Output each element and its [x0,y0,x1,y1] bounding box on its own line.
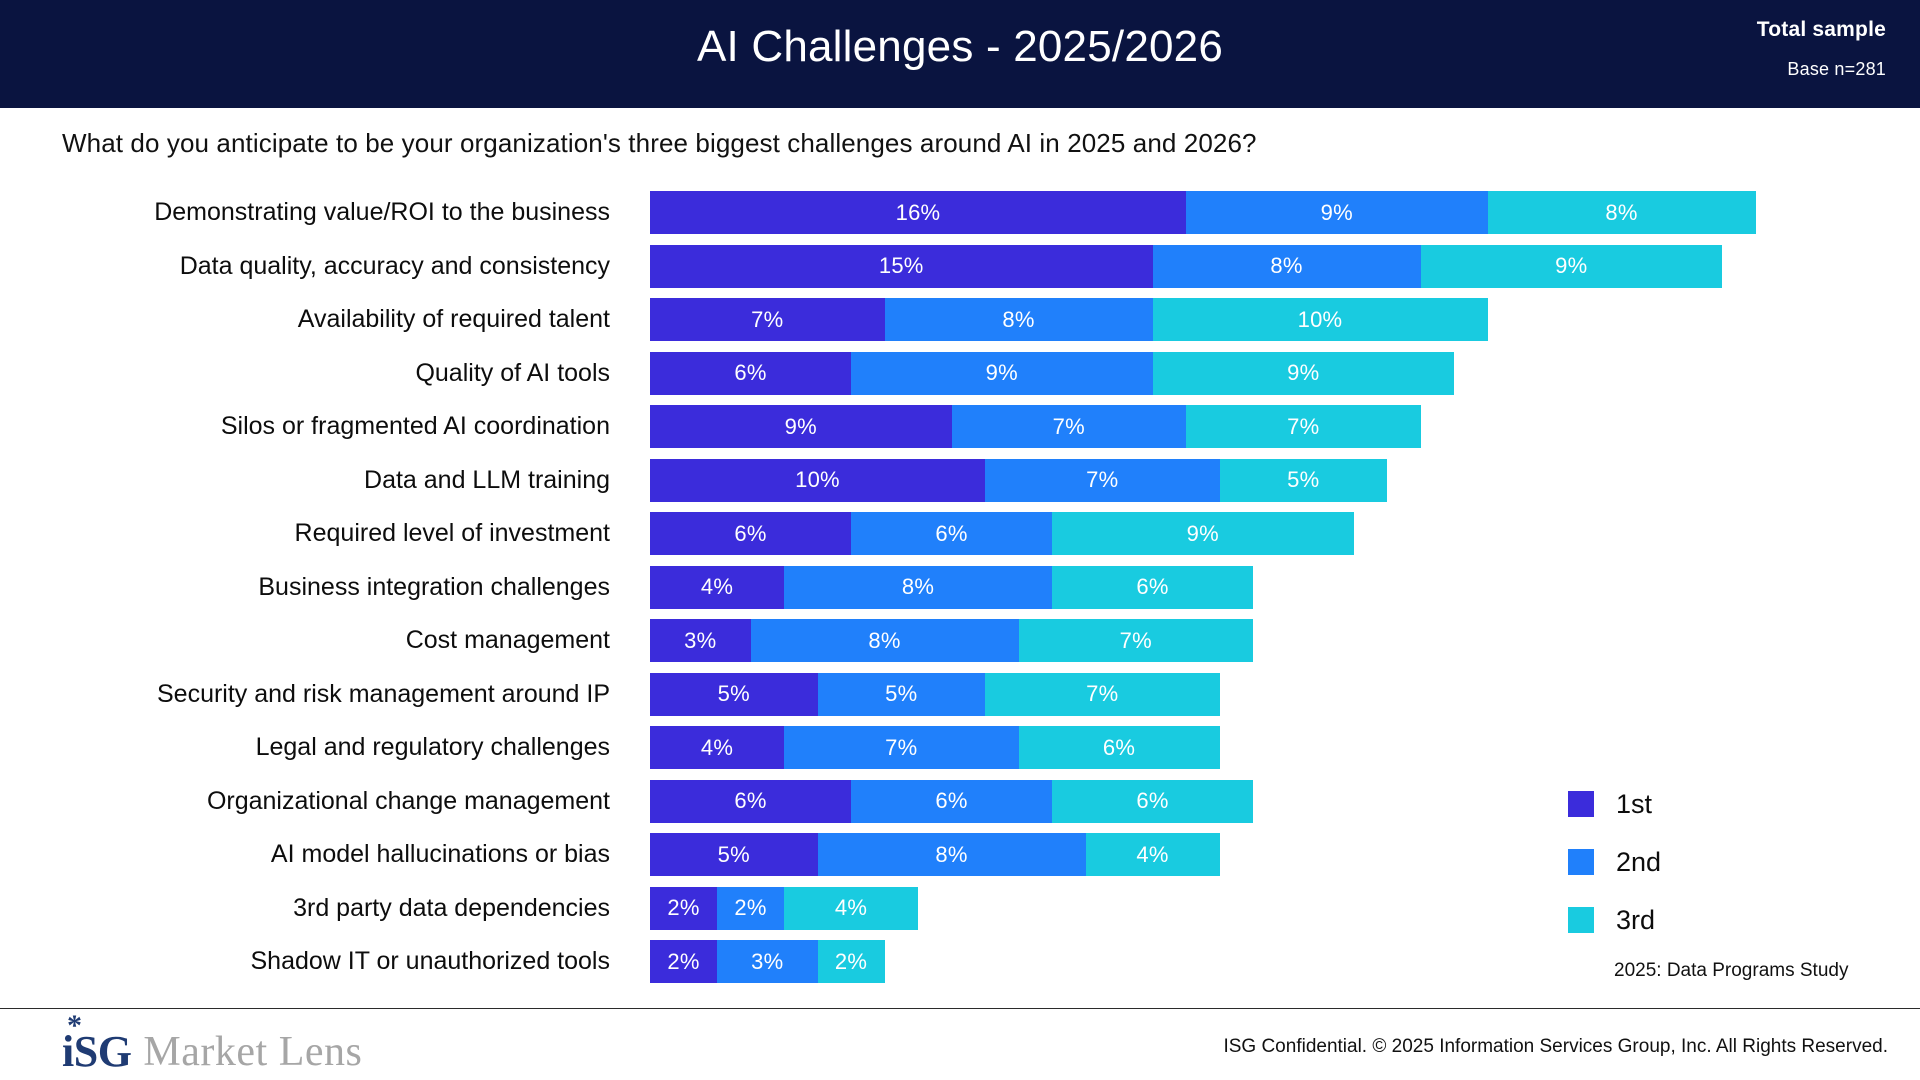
bar-segment-1st: 6% [650,352,851,395]
stacked-bar: 3%8%7% [650,619,1920,662]
bar-segment-1st: 2% [650,887,717,930]
bar-segment-2nd: 8% [818,833,1086,876]
category-label: Availability of required talent [0,305,650,334]
chart-row: Demonstrating value/ROI to the business1… [0,186,1920,240]
bar-segment-3rd: 4% [784,887,918,930]
category-label: Silos or fragmented AI coordination [0,412,650,441]
bar-segment-2nd: 8% [885,298,1153,341]
bar-segment-3rd: 7% [1186,405,1421,448]
page-title: AI Challenges - 2025/2026 [0,22,1920,72]
bar-segment-3rd: 9% [1052,512,1354,555]
bar-segment-1st: 6% [650,780,851,823]
stacked-bar: 4%8%6% [650,566,1920,609]
category-label: Data and LLM training [0,466,650,495]
category-label: Organizational change management [0,787,650,816]
bar-segment-2nd: 2% [717,887,784,930]
stacked-bar: 16%9%8% [650,191,1920,234]
chart-row: Business integration challenges4%8%6% [0,561,1920,615]
legend-label: 2nd [1616,849,1661,876]
legend-label: 3rd [1616,907,1655,934]
base-count-label: Base n=281 [1757,57,1886,81]
legend-item-1st[interactable]: 1st [1568,775,1888,833]
isg-wordmark: * iSG [62,1030,131,1074]
bar-segment-1st: 10% [650,459,985,502]
bar-segment-1st: 2% [650,940,717,983]
bar-segment-1st: 4% [650,726,784,769]
legend-swatch-icon [1568,849,1594,875]
asterisk-icon: * [67,1011,82,1041]
bar-segment-2nd: 8% [784,566,1052,609]
header-bar: AI Challenges - 2025/2026 Total sample B… [0,0,1920,108]
market-lens-text: Market Lens [143,1030,362,1074]
chart-row: Silos or fragmented AI coordination9%7%7… [0,400,1920,454]
category-label: Quality of AI tools [0,359,650,388]
bar-segment-2nd: 7% [985,459,1220,502]
bar-segment-2nd: 3% [717,940,818,983]
category-label: Security and risk management around IP [0,680,650,709]
bar-segment-1st: 7% [650,298,885,341]
stacked-bar: 10%7%5% [650,459,1920,502]
stacked-bar: 6%9%9% [650,352,1920,395]
chart-legend: 1st2nd3rd [1568,775,1888,949]
legend-item-2nd[interactable]: 2nd [1568,833,1888,891]
bar-segment-3rd: 6% [1052,566,1253,609]
category-label: Business integration challenges [0,573,650,602]
chart-row: Availability of required talent7%8%10% [0,293,1920,347]
category-label: Data quality, accuracy and consistency [0,252,650,281]
category-label: AI model hallucinations or bias [0,840,650,869]
bar-segment-3rd: 6% [1052,780,1253,823]
slide-root: AI Challenges - 2025/2026 Total sample B… [0,0,1920,1080]
chart-row: Data and LLM training10%7%5% [0,454,1920,508]
footer-divider [0,1008,1920,1009]
survey-question: What do you anticipate to be your organi… [62,128,1257,159]
chart-row: Security and risk management around IP5%… [0,668,1920,722]
legend-item-3rd[interactable]: 3rd [1568,891,1888,949]
bar-segment-3rd: 10% [1153,298,1488,341]
bar-segment-1st: 5% [650,833,818,876]
stacked-bar: 7%8%10% [650,298,1920,341]
bar-segment-3rd: 2% [818,940,885,983]
bar-segment-3rd: 9% [1153,352,1455,395]
stacked-bar: 6%6%9% [650,512,1920,555]
bar-segment-3rd: 7% [1019,619,1254,662]
bar-segment-2nd: 6% [851,512,1052,555]
bar-segment-2nd: 9% [1186,191,1488,234]
category-label: Shadow IT or unauthorized tools [0,947,650,976]
header-sample-block: Total sample Base n=281 [1757,16,1886,81]
bar-segment-3rd: 9% [1421,245,1723,288]
bar-segment-2nd: 5% [818,673,986,716]
stacked-bar: 4%7%6% [650,726,1920,769]
bar-segment-1st: 9% [650,405,952,448]
bar-segment-1st: 15% [650,245,1153,288]
bar-segment-3rd: 4% [1086,833,1220,876]
total-sample-label: Total sample [1757,16,1886,43]
stacked-bar: 5%5%7% [650,673,1920,716]
chart-row: Legal and regulatory challenges4%7%6% [0,721,1920,775]
bar-segment-1st: 16% [650,191,1186,234]
copyright-notice: ISG Confidential. © 2025 Information Ser… [1223,1036,1888,1058]
stacked-bar: 15%8%9% [650,245,1920,288]
bar-segment-2nd: 8% [751,619,1019,662]
category-label: 3rd party data dependencies [0,894,650,923]
category-label: Required level of investment [0,519,650,548]
category-label: Demonstrating value/ROI to the business [0,198,650,227]
bar-segment-2nd: 6% [851,780,1052,823]
bar-segment-2nd: 8% [1153,245,1421,288]
category-label: Legal and regulatory challenges [0,733,650,762]
bar-segment-1st: 6% [650,512,851,555]
category-label: Cost management [0,626,650,655]
source-note: 2025: Data Programs Study [1614,960,1848,982]
chart-row: Cost management3%8%7% [0,614,1920,668]
chart-row: Data quality, accuracy and consistency15… [0,240,1920,294]
legend-swatch-icon [1568,907,1594,933]
bar-segment-3rd: 8% [1488,191,1756,234]
bar-segment-3rd: 5% [1220,459,1388,502]
bar-segment-1st: 3% [650,619,751,662]
isg-market-lens-logo: * iSG Market Lens [62,1022,362,1074]
chart-row: Quality of AI tools6%9%9% [0,347,1920,401]
bar-segment-1st: 5% [650,673,818,716]
stacked-bar: 9%7%7% [650,405,1920,448]
bar-segment-1st: 4% [650,566,784,609]
chart-row: Required level of investment6%6%9% [0,507,1920,561]
bar-segment-2nd: 7% [784,726,1019,769]
bar-segment-2nd: 9% [851,352,1153,395]
bar-segment-3rd: 7% [985,673,1220,716]
legend-swatch-icon [1568,791,1594,817]
bar-segment-2nd: 7% [952,405,1187,448]
bar-segment-3rd: 6% [1019,726,1220,769]
legend-label: 1st [1616,791,1652,818]
